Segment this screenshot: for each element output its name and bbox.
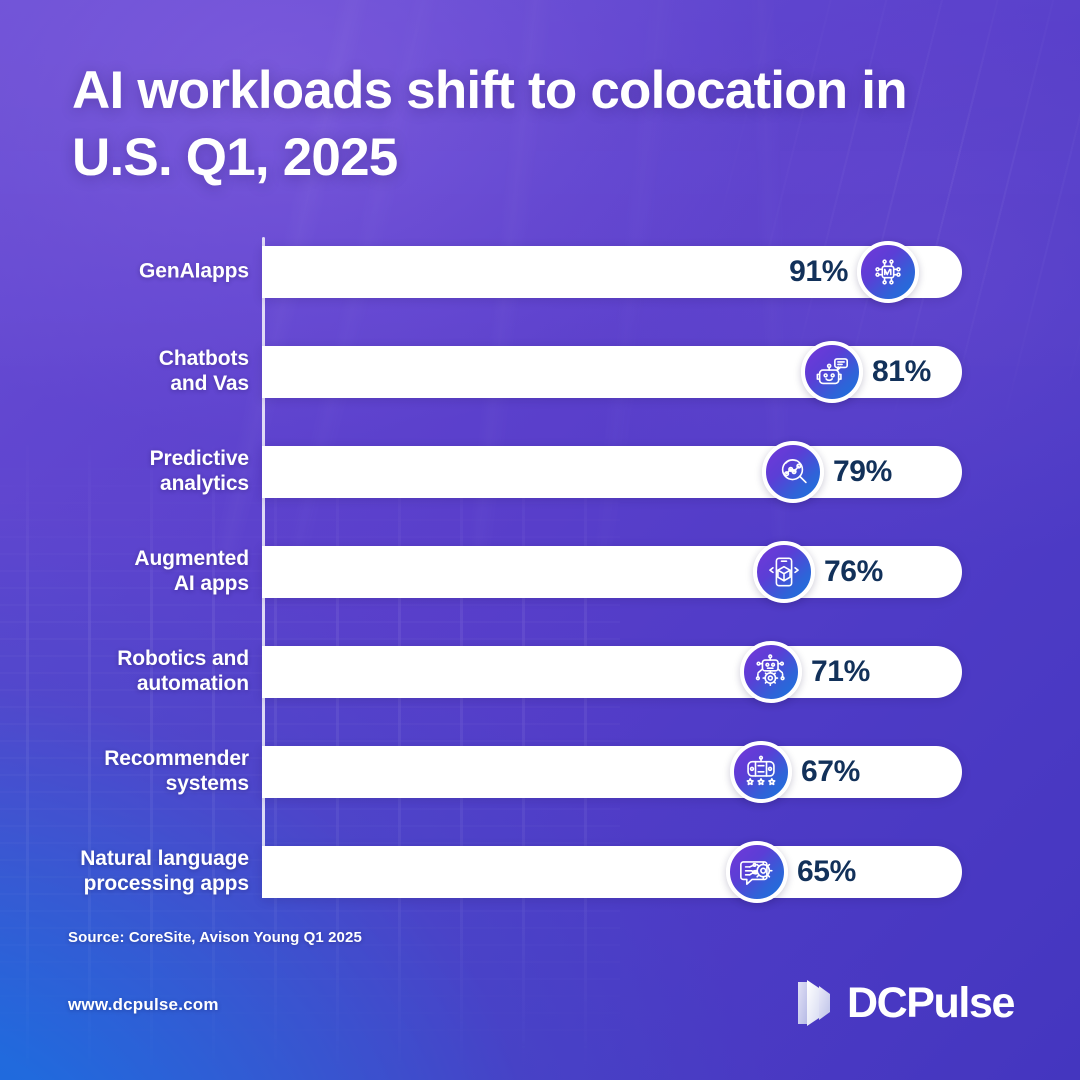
robot-gear-icon <box>752 653 790 691</box>
value-marker[interactable] <box>762 441 824 503</box>
chart-row: Augmented AI apps 76% <box>0 546 1080 598</box>
row-label: Recommender systems <box>0 747 249 797</box>
infographic-canvas: AI workloads shift to colocation in U.S.… <box>0 0 1080 1080</box>
value-marker[interactable] <box>726 841 788 903</box>
website-url[interactable]: www.dcpulse.com <box>68 995 219 1015</box>
value-marker[interactable] <box>730 741 792 803</box>
value-marker[interactable] <box>740 641 802 703</box>
row-label: Chatbots and Vas <box>0 347 249 397</box>
dcpulse-chevron-logo-icon <box>796 978 838 1028</box>
bar-chart: GenAIapps 91%Chatbots and Vas <box>0 0 1080 1080</box>
source-note: Source: CoreSite, Avison Young Q1 2025 <box>68 929 362 946</box>
bar-track[interactable] <box>262 846 962 898</box>
analytics-magnifier-icon <box>774 453 812 491</box>
robot-stars-icon <box>742 753 780 791</box>
row-label: Robotics and automation <box>0 647 249 697</box>
value-marker[interactable] <box>857 241 919 303</box>
value-marker[interactable] <box>801 341 863 403</box>
chatbot-icon <box>813 353 851 391</box>
value-label: 65% <box>797 855 856 889</box>
row-label: GenAIapps <box>0 260 249 285</box>
value-label: 81% <box>872 355 931 389</box>
chart-row: GenAIapps 91% <box>0 246 1080 298</box>
value-label: 79% <box>833 455 892 489</box>
chart-row: Recommender systems 67% <box>0 746 1080 798</box>
ai-chip-icon <box>869 253 907 291</box>
row-label: Predictive analytics <box>0 447 249 497</box>
dcpulse-logo[interactable]: DCPulse <box>796 978 1014 1028</box>
value-label: 67% <box>801 755 860 789</box>
value-marker[interactable] <box>753 541 815 603</box>
dcpulse-logo-text: DCPulse <box>847 982 1014 1025</box>
chart-row: Chatbots and Vas 81% <box>0 346 1080 398</box>
row-label: Natural language processing apps <box>0 847 249 897</box>
row-label: Augmented AI apps <box>0 547 249 597</box>
augmented-reality-phone-icon <box>765 553 803 591</box>
value-label: 71% <box>811 655 870 689</box>
chart-row: Predictive analytics 79% <box>0 446 1080 498</box>
value-label: 91% <box>789 255 848 289</box>
value-label: 76% <box>824 555 883 589</box>
chart-row: Robotics and automation 71% <box>0 646 1080 698</box>
chat-gear-icon <box>738 853 776 891</box>
chart-row: Natural language processing apps 65% <box>0 846 1080 898</box>
